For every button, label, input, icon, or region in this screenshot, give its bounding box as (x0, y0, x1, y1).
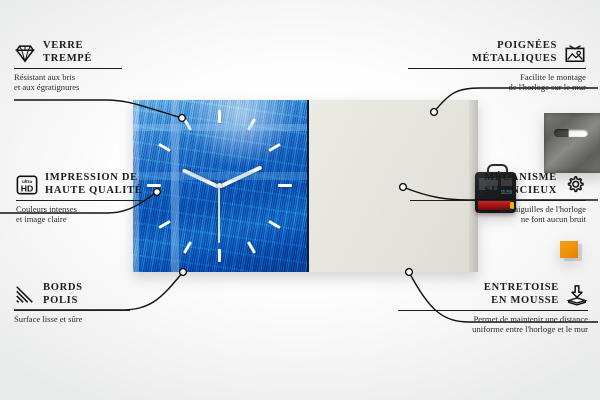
callout-desc-line1: Facilite le montage (408, 72, 586, 82)
metal-hanger-plate (544, 113, 600, 173)
callout-divider (14, 68, 122, 69)
clock-tick (268, 220, 281, 229)
clock-hand-second (218, 186, 220, 243)
clock-tick (183, 118, 192, 131)
callout-header: POIGNÉES MÉTALLIQUES (408, 40, 586, 65)
callout-divider (16, 200, 142, 201)
callout-title-line2: HAUTE QUALITÉ (45, 185, 143, 198)
callout-entretoise-en-mousse[interactable]: ENTRETOISE EN MOUSSE Permet de maintenir… (398, 282, 588, 335)
clock-hand-minute (218, 165, 262, 188)
diamond-icon (14, 42, 36, 64)
callout-verre-trempe[interactable]: VERRE TREMPÉ Résistant aux bris et aux é… (14, 40, 192, 93)
callout-title-line1: VERRE (43, 40, 92, 53)
clock-hand-hub (217, 183, 222, 188)
callout-header: VERRE TREMPÉ (14, 40, 192, 65)
callout-divider (408, 68, 586, 69)
callout-desc-line1: Résistant aux bris (14, 72, 192, 82)
callout-desc-line1: Surface lisse et sûre (14, 314, 192, 324)
wall-frame-hook-icon (564, 42, 586, 64)
callout-desc-line1: Permet de maintenir une distance (398, 314, 588, 324)
clock-tick (218, 110, 221, 123)
callout-title-line1: BORDS (43, 282, 83, 295)
callout-divider (410, 200, 586, 201)
ultra-hd-icon-large-text: HD (21, 183, 34, 193)
clock-hand-hour (182, 168, 220, 189)
ultra-hd-icon: ultra HD (16, 174, 38, 196)
callout-desc-line1: Couleurs intenses (16, 204, 166, 214)
callout-header: ENTRETOISE EN MOUSSE (398, 282, 588, 307)
callout-title-line2: EN MOUSSE (398, 295, 559, 308)
callout-divider (14, 310, 130, 311)
callout-desc-line2: ne font aucun bruit (410, 214, 586, 224)
spacer-arrow-icon (566, 284, 588, 306)
callout-desc-line1: Les aiguilles de l'horloge (410, 204, 586, 214)
infographic-canvas: VERRE TREMPÉ Résistant aux bris et aux é… (0, 0, 600, 400)
foam-spacer (560, 241, 578, 258)
clock-tick (278, 184, 292, 187)
callout-desc-line2: et aux égratignures (14, 82, 192, 92)
callout-header: ultra HD IMPRESSION DE HAUTE QUALITÉ (16, 172, 166, 197)
callout-title-line2: SILENCIEUX (410, 185, 557, 198)
callout-title-line1: POIGNÉES (408, 40, 557, 53)
callout-header: MÉCANISME SILENCIEUX (410, 172, 586, 197)
callout-title-line1: MÉCANISME (410, 172, 557, 185)
callout-title-line2: POLIS (43, 295, 83, 308)
callout-title-line2: MÉTALLIQUES (408, 53, 557, 66)
callout-title-line2: TREMPÉ (43, 53, 92, 66)
callout-poignees-metalliques[interactable]: POIGNÉES MÉTALLIQUES Facilite le montage… (408, 40, 586, 93)
gear-icon (564, 174, 586, 196)
callout-title-line1: ENTRETOISE (398, 282, 559, 295)
clock-tick (268, 143, 281, 152)
polished-edge-icon (14, 284, 36, 306)
clock-tick (247, 241, 256, 254)
callout-desc-line2: uniforme entre l'horloge et le mur (398, 324, 588, 334)
callout-bords-polis[interactable]: BORDS POLIS Surface lisse et sûre (14, 282, 192, 324)
callout-mecanisme-silencieux[interactable]: MÉCANISME SILENCIEUX Les aiguilles de l'… (410, 172, 586, 225)
clock-tick (158, 143, 171, 152)
hanger-keyhole-slot (554, 129, 588, 137)
callout-title-line1: IMPRESSION DE (45, 172, 143, 185)
callout-desc-line2: et image claire (16, 214, 166, 224)
clock-tick (218, 249, 221, 262)
clock-tick (247, 118, 256, 131)
callout-desc-line2: de l'horloge sur le mur (408, 82, 586, 92)
callout-impression-haute-qualite[interactable]: ultra HD IMPRESSION DE HAUTE QUALITÉ Cou… (16, 172, 166, 225)
callout-header: BORDS POLIS (14, 282, 192, 307)
callout-divider (398, 310, 588, 311)
clock-tick (183, 241, 192, 254)
